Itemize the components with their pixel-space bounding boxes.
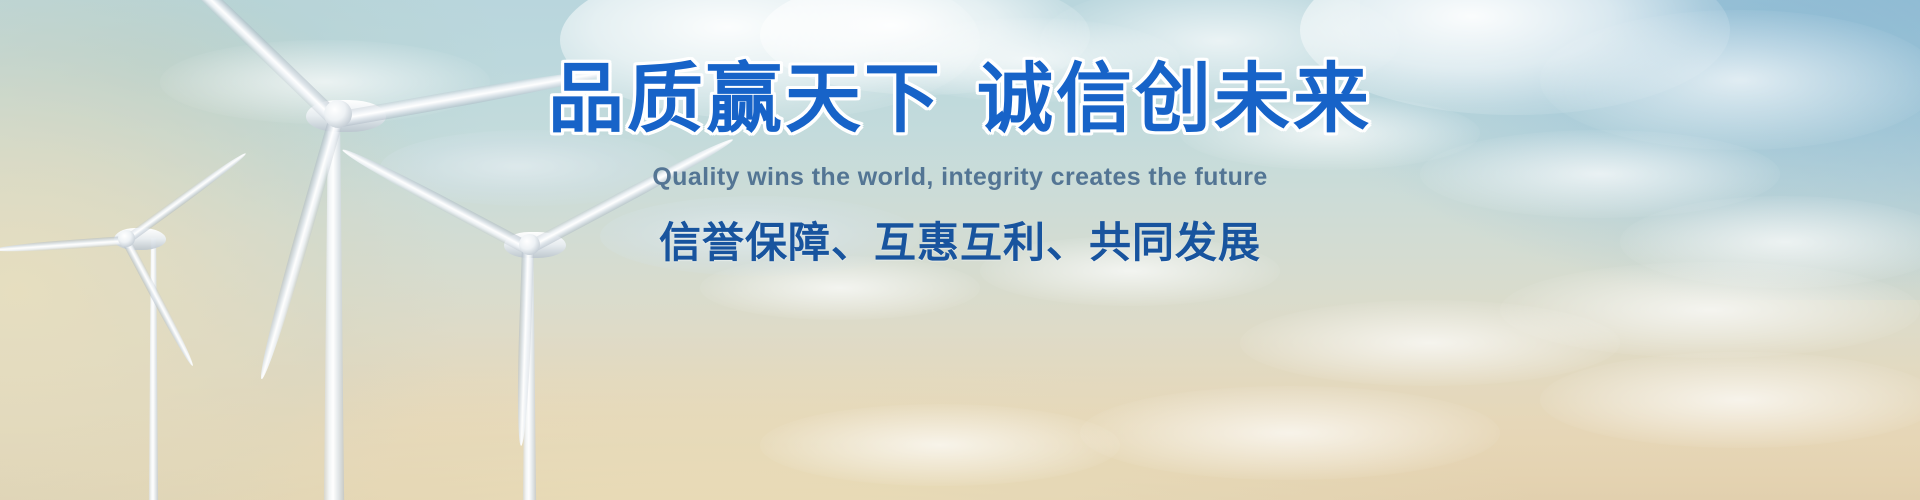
- headline-left-phrase: 品质赢天下: [548, 57, 943, 142]
- banner-subtitle-english: Quality wins the world, integrity create…: [0, 165, 1920, 190]
- banner-tagline: 信誉保障、互惠互利、共同发展: [0, 222, 1920, 264]
- headline-right-phrase: 诚信创未来: [977, 57, 1372, 142]
- banner-headline: 品质赢天下诚信创未来: [0, 62, 1920, 138]
- promo-banner: 品质赢天下诚信创未来 Quality wins the world, integ…: [0, 0, 1920, 500]
